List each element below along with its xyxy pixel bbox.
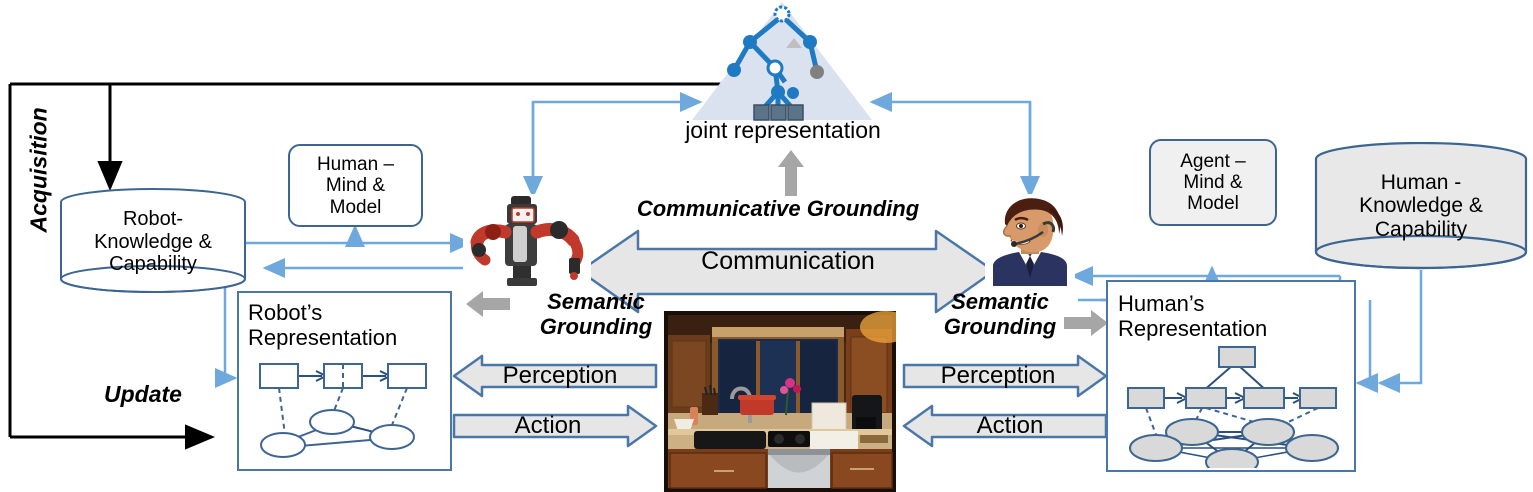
human-representation-title: Human’s Representation [1118,286,1348,348]
robot-knowledge-label: Robot- Knowledge & Capability [58,192,248,292]
baxter-robot-photo[interactable] [463,194,591,286]
robot-representation-title: Robot’s Representation [248,296,448,356]
action-left-label: Action [458,408,638,444]
human-representation-graph [1120,340,1342,468]
robot-knowledge-line-1: Robot- [123,208,183,230]
human-representation-line-1: Human’s [1118,292,1204,317]
action-right-label: Action [920,408,1100,444]
human-knowledge-label: Human - Knowledge & Capability [1312,148,1530,264]
human-representation-line-2: Representation [1118,317,1267,342]
semantic-grounding-left-gray-arrow [466,291,510,317]
human-knowledge-line-2: Knowledge & [1359,194,1483,218]
acquisition-label: Acquisition [0,155,100,185]
joint-representation-triangle[interactable] [690,0,875,122]
human-mind-model-label: Human – Mind & Model [288,146,423,226]
agent-mind-model-line-1: Agent – [1180,151,1246,172]
joint-representation-label: joint representation [640,116,926,146]
semantic-grounding-right-line-2: Grounding [944,315,1056,340]
semantic-grounding-right-line-1: Semantic [951,290,1049,315]
robot-representation-graph [250,358,440,463]
robot-knowledge-line-2: Knowledge & [94,231,212,253]
human-mind-model-line-1: Human – [317,154,394,175]
robot-representation-line-1: Robot’s [248,301,322,326]
human-avatar[interactable] [985,194,1075,286]
communicative-grounding-up-arrow [778,150,804,196]
communication-label: Communication [598,243,978,279]
human-knowledge-line-3: Capability [1375,218,1467,242]
agent-mind-model-label: Agent – Mind & Model [1149,141,1277,224]
agent-mind-model-line-3: Model [1187,193,1239,214]
update-label: Update [78,380,208,410]
perception-left-label: Perception [470,358,650,394]
diagram-canvas: Acquisition Update Robot- Knowledge & Ca… [0,0,1533,492]
semantic-grounding-right-gray-arrow [1064,310,1108,336]
semantic-grounding-right-label: Semantic Grounding [920,284,1080,346]
human-knowledge-line-1: Human - [1381,171,1462,195]
semantic-grounding-left-line-2: Grounding [540,315,652,340]
human-mind-model-line-2: Mind & [326,175,385,196]
agent-mind-model-line-2: Mind & [1183,172,1242,193]
semantic-grounding-left-label: Semantic Grounding [516,284,676,346]
perception-right-label: Perception [908,358,1088,394]
robot-representation-line-2: Representation [248,326,397,351]
semantic-grounding-left-line-1: Semantic [547,290,645,315]
kitchen-scene-photo[interactable] [664,311,896,492]
human-mind-model-line-3: Model [330,197,382,218]
robot-knowledge-line-3: Capability [109,253,197,275]
